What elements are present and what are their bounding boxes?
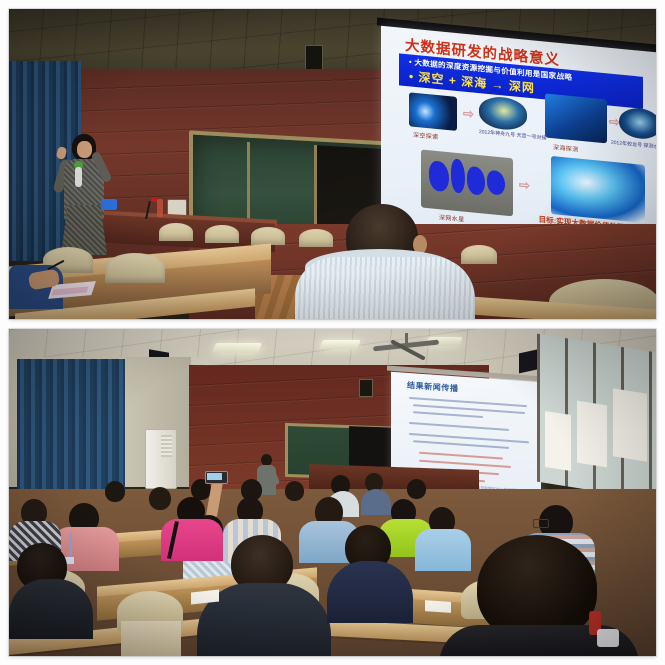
handheld-microphone	[75, 167, 82, 187]
attendee-head	[105, 481, 125, 502]
attendee-head	[407, 479, 426, 499]
ceiling-vent-icon	[359, 379, 373, 397]
attendee-torso	[361, 489, 391, 515]
ceiling-light	[319, 340, 361, 349]
arrow-right-icon: ⇨	[463, 106, 474, 123]
smartphone-screen	[207, 473, 222, 480]
thumb-caption: 深网水星	[439, 212, 465, 223]
ceiling-vent-icon	[305, 45, 323, 71]
attendee-torso	[327, 561, 413, 623]
wall-poster	[613, 388, 647, 461]
chair	[159, 223, 193, 241]
arrow-right-icon: ⇨	[519, 177, 530, 194]
ceiling-light	[212, 343, 262, 353]
submersible-thumb	[619, 107, 656, 141]
world-map-thumb	[421, 149, 513, 216]
deep-space-thumb	[409, 92, 457, 131]
presenter-face	[77, 141, 92, 158]
thumb-caption: 2012年蛟龙号 探测水下7000米	[611, 139, 656, 153]
wall-poster	[101, 199, 117, 210]
thumb-caption: 2012年神舟九号 天宫一号对接	[479, 128, 547, 142]
chair-cover	[121, 621, 181, 656]
chair	[205, 225, 239, 243]
chair	[461, 245, 497, 264]
paper-on-desk	[425, 600, 451, 613]
attendee-torso	[415, 529, 471, 571]
slide-title: 结果新闻传播	[407, 380, 459, 395]
window-curtain	[17, 359, 125, 495]
air-conditioner-grill	[161, 435, 172, 457]
photo-collage: 大数据研发的战略意义 • 大数据的深度资源挖掘与价值利用是国家战略 • 深空 +…	[0, 0, 665, 665]
glasses-icon	[533, 519, 549, 528]
wall-poster	[545, 411, 571, 471]
attendee-torso	[9, 579, 93, 639]
chair	[105, 253, 165, 283]
chair	[251, 227, 285, 245]
thumb-caption: 深空探索	[413, 130, 439, 141]
wall-poster	[577, 401, 607, 468]
globe-network-thumb	[551, 156, 645, 223]
water-bottle	[157, 199, 163, 217]
thumb-caption: 深海探测	[553, 142, 579, 153]
attendee-head	[149, 487, 171, 510]
attendee-striped-shirt	[295, 257, 475, 319]
badge	[597, 629, 619, 647]
chair	[299, 229, 333, 247]
deep-sea-thumb	[545, 93, 607, 143]
lecture-presenter-photo: 大数据研发的战略意义 • 大数据的深度资源挖掘与价值利用是国家战略 • 深空 +…	[9, 9, 656, 319]
collage-gap	[9, 319, 656, 329]
presentation-slide: 大数据研发的战略意义 • 大数据的深度资源挖掘与价值利用是国家战略 • 深空 +…	[387, 28, 653, 254]
lanyard	[69, 533, 72, 559]
attendee-head	[285, 481, 304, 501]
spacecraft-thumb	[479, 95, 527, 132]
lecture-audience-photo: 结果新闻传播 中国科学院大学计算机与控制学院2017 学术报告中心	[9, 329, 656, 656]
